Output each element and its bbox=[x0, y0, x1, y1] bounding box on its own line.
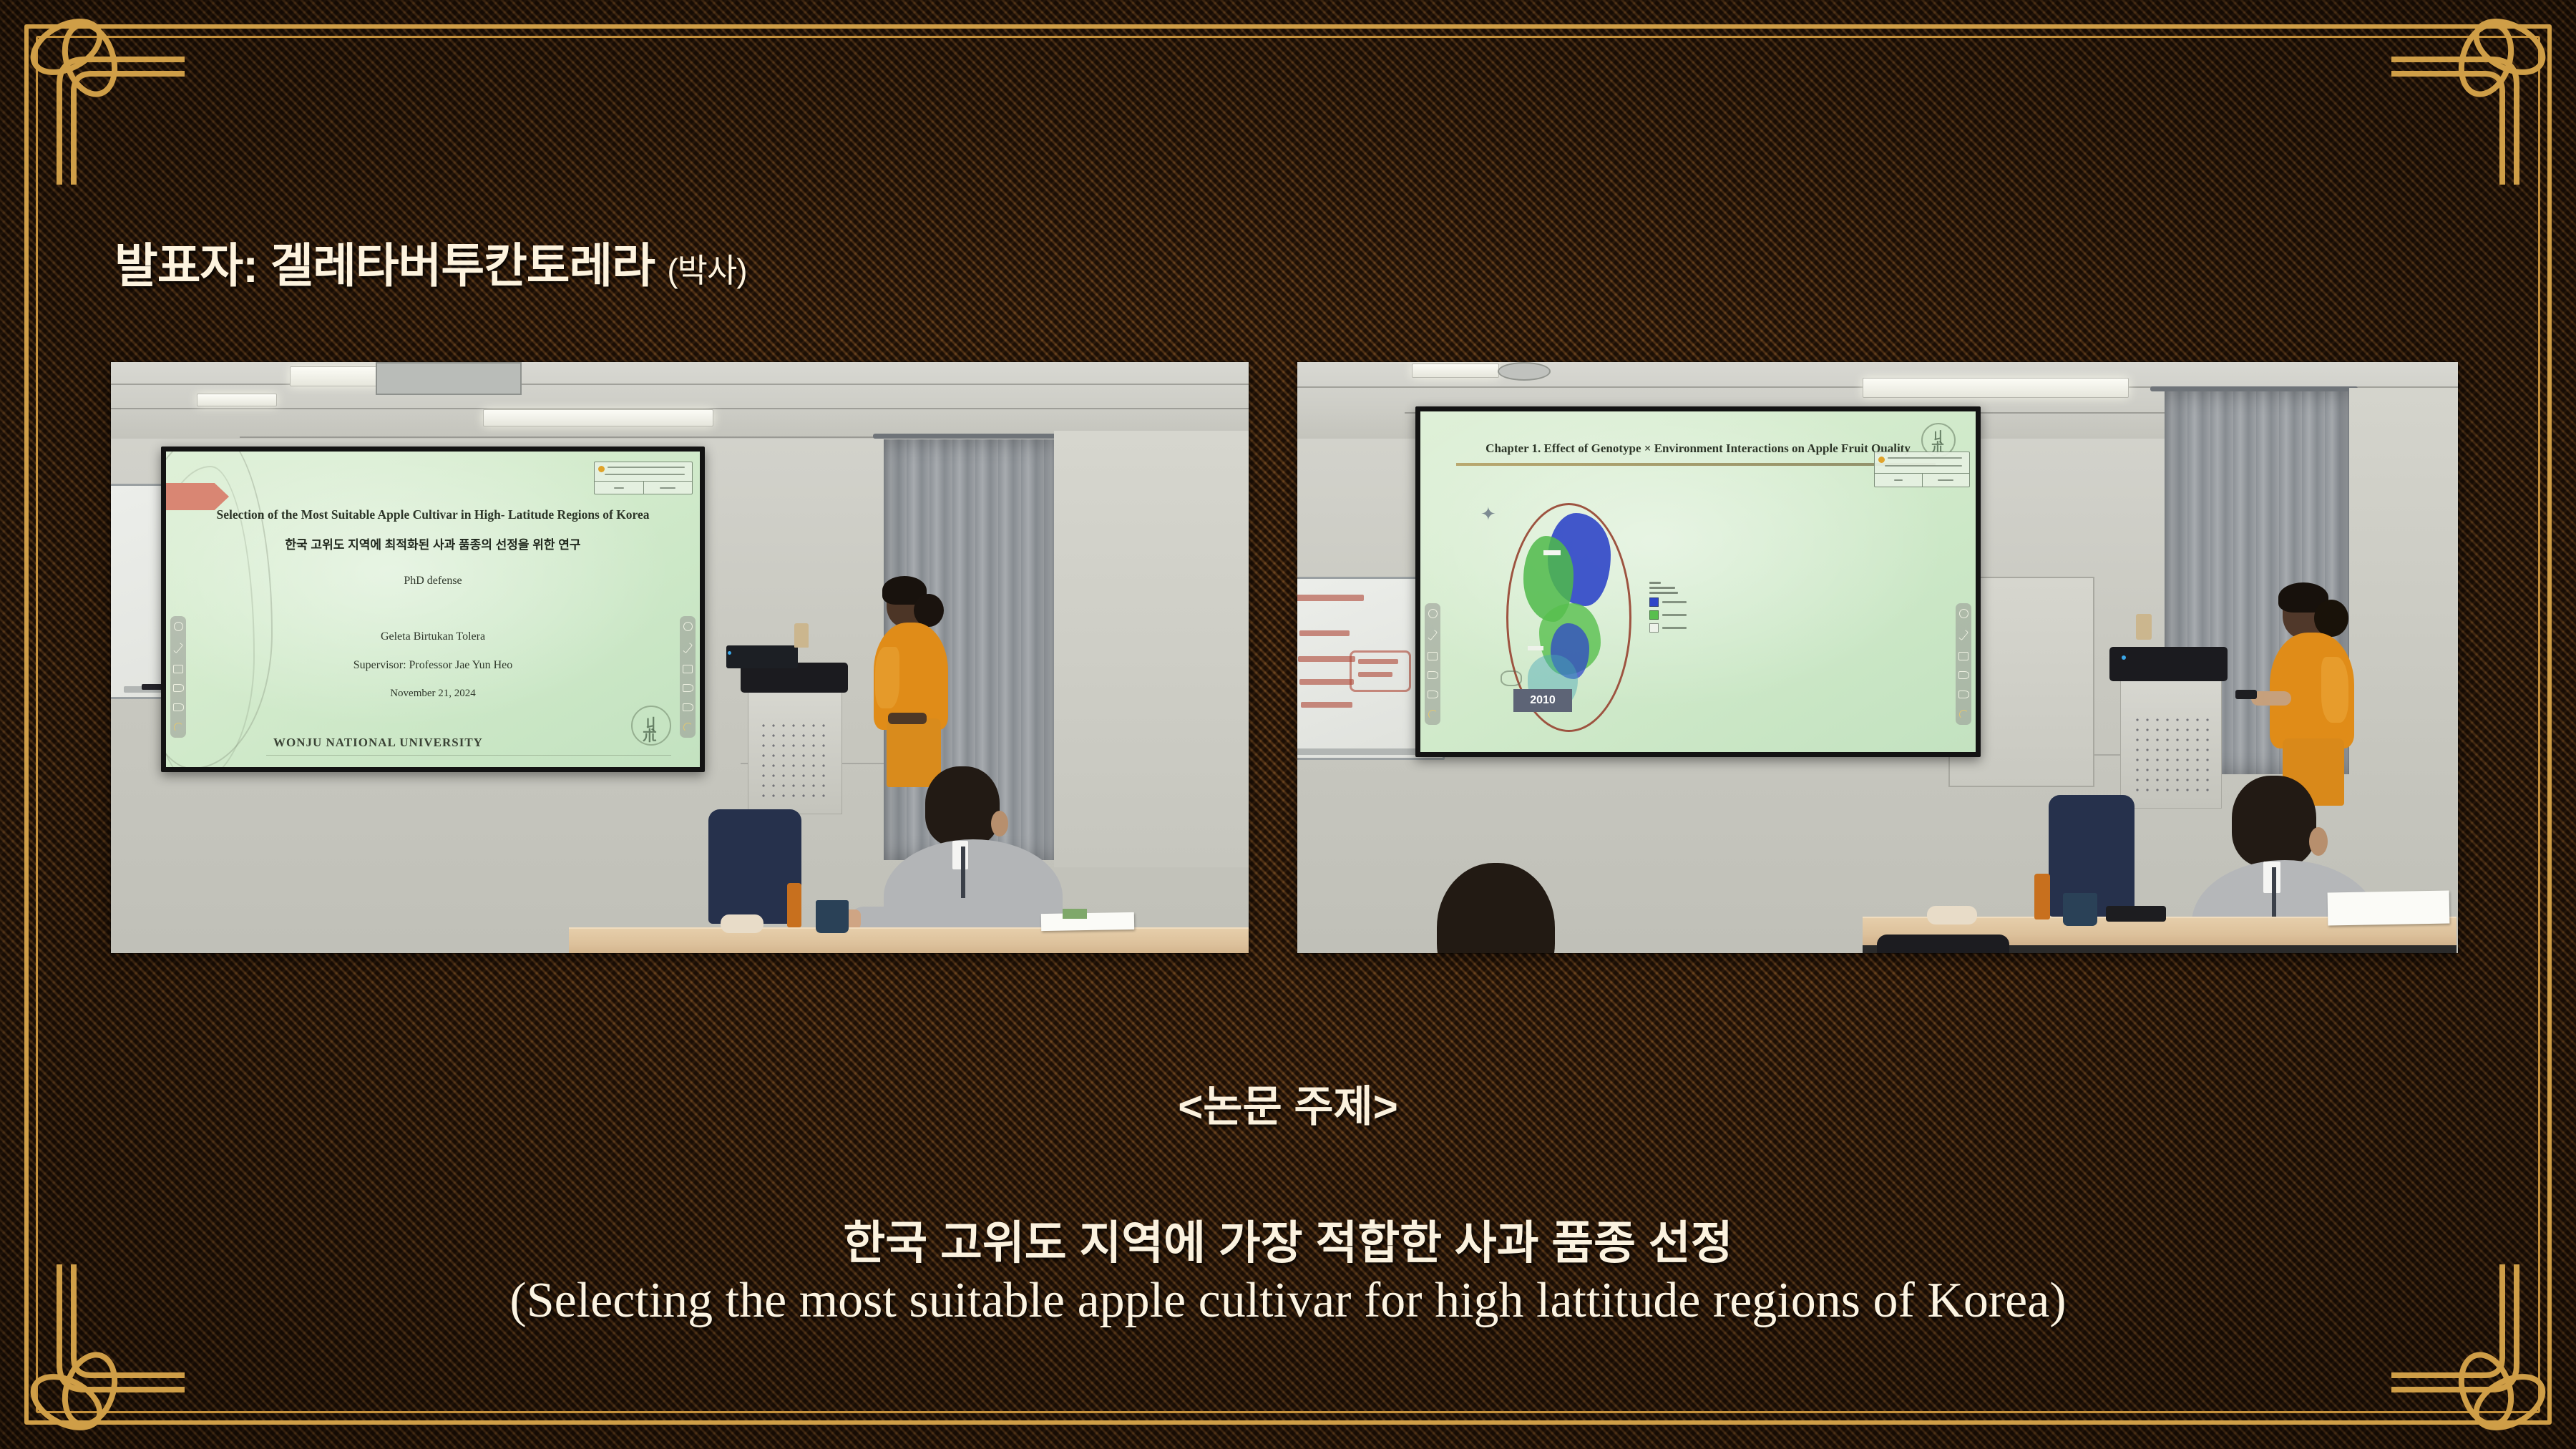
ceiling-speaker bbox=[1498, 362, 1551, 381]
page-icon bbox=[173, 665, 183, 673]
ceiling-light bbox=[1863, 378, 2129, 398]
side-wall bbox=[2349, 388, 2458, 810]
screen-toolbar-right[interactable] bbox=[680, 616, 696, 738]
refresh-icon bbox=[174, 723, 183, 732]
snack-item bbox=[1927, 906, 1977, 924]
back-arrow-icon bbox=[173, 684, 184, 692]
page-icon bbox=[1958, 652, 1968, 660]
coffee-cup bbox=[2063, 893, 2097, 926]
back-arrow-icon bbox=[1958, 671, 1969, 679]
presenter-degree-label: (박사) bbox=[667, 252, 746, 289]
page-icon bbox=[1428, 652, 1438, 660]
pen-icon bbox=[683, 643, 693, 653]
coffee-cup bbox=[816, 900, 849, 933]
pen-icon bbox=[173, 643, 183, 653]
update-dialog bbox=[1874, 452, 1970, 487]
forward-arrow-icon bbox=[683, 703, 693, 711]
seated-reviewer bbox=[884, 766, 1063, 952]
presenter-person bbox=[2267, 582, 2363, 797]
presentation-clicker bbox=[2235, 690, 2257, 699]
slide-title-kr: 한국 고위도 지역에 최적화된 사과 품종의 선정을 위한 연구 bbox=[166, 535, 700, 552]
target-icon bbox=[1959, 609, 1968, 618]
device-led-icon bbox=[2122, 655, 2126, 660]
target-icon bbox=[683, 622, 693, 631]
dialog-yes-button[interactable] bbox=[595, 482, 643, 494]
forward-arrow-icon bbox=[1958, 691, 1969, 698]
slide-title-en: Selection of the Most Suitable Apple Cul… bbox=[166, 507, 700, 522]
presenter-headline: 발표자: 겔레타버투칸토레라 (박사) bbox=[114, 228, 747, 296]
refresh-icon bbox=[1428, 710, 1438, 719]
slide-author-label: Geleta Birtukan Tolera bbox=[166, 630, 700, 643]
ceiling-light bbox=[1412, 364, 1499, 378]
forward-arrow-icon bbox=[173, 703, 184, 711]
slide-event-label: PhD defense bbox=[166, 575, 700, 587]
screen-toolbar-left[interactable] bbox=[1425, 603, 1440, 725]
drink-bottle bbox=[2034, 874, 2050, 919]
projection-screen-frame: Chapter 1. Effect of Genotype × Environm… bbox=[1415, 406, 1981, 757]
map-label-patch bbox=[1528, 646, 1543, 650]
ceiling-light bbox=[483, 409, 713, 426]
page-icon bbox=[683, 665, 693, 673]
drink-bottle bbox=[787, 883, 801, 927]
presentation-slide: 발표자: 겔레타버투칸토레라 (박사) bbox=[0, 0, 2576, 1449]
cup-holder bbox=[2136, 614, 2152, 640]
smartphone bbox=[2106, 906, 2166, 922]
snack-item bbox=[721, 914, 763, 933]
target-icon bbox=[1428, 609, 1438, 618]
slide-institution-label: WONJU NATIONAL UNIVERSITY bbox=[273, 736, 483, 750]
ceiling-vent bbox=[376, 362, 522, 395]
ceiling-light bbox=[197, 394, 277, 406]
map-legend bbox=[1649, 582, 1692, 633]
podium-monitor bbox=[2109, 647, 2228, 681]
caption-tag: <논문 주제> bbox=[0, 1072, 2576, 1134]
slide-supervisor-label: Supervisor: Professor Jae Yun Heo bbox=[166, 659, 700, 672]
audience-member-seated bbox=[1397, 863, 1598, 953]
back-arrow-icon bbox=[683, 684, 693, 692]
back-arrow-icon bbox=[1428, 671, 1438, 679]
map-label-patch bbox=[1543, 550, 1561, 555]
papers-on-desk bbox=[1041, 912, 1134, 931]
update-dialog bbox=[594, 462, 693, 494]
sticky-note bbox=[1063, 909, 1087, 919]
projection-screen-frame: Selection of the Most Suitable Apple Cul… bbox=[161, 447, 705, 772]
curtain-rod bbox=[873, 434, 1066, 439]
device-led-icon bbox=[728, 651, 731, 655]
caption-title-english: (Selecting the most suitable apple culti… bbox=[0, 1272, 2576, 1330]
refresh-icon bbox=[683, 723, 693, 732]
screen-toolbar-right[interactable] bbox=[1956, 603, 1971, 725]
podium-device bbox=[726, 645, 798, 668]
dialog-no-button[interactable] bbox=[1922, 474, 1970, 487]
pen-icon bbox=[1958, 630, 1968, 640]
ceiling-seam bbox=[111, 384, 1249, 385]
podium bbox=[748, 677, 842, 814]
projection-screen: Chapter 1. Effect of Genotype × Environm… bbox=[1420, 411, 1976, 752]
dialog-no-button[interactable] bbox=[643, 482, 693, 494]
refresh-icon bbox=[1959, 710, 1968, 719]
jeju-inset-box bbox=[1501, 670, 1522, 686]
curtain-rod bbox=[2150, 386, 2358, 391]
papers-on-desk bbox=[2328, 891, 2450, 926]
dialog-yes-button[interactable] bbox=[1875, 474, 1922, 487]
cup-holder bbox=[794, 623, 809, 648]
screen-toolbar-left[interactable] bbox=[170, 616, 186, 738]
compass-rose-icon: ✦ bbox=[1480, 504, 1496, 523]
caption-title-korean: 한국 고위도 지역에 가장 적합한 사과 품종 선정 bbox=[0, 1206, 2576, 1272]
target-icon bbox=[174, 622, 183, 631]
slide-date-label: November 21, 2024 bbox=[166, 688, 700, 700]
projection-screen: Selection of the Most Suitable Apple Cul… bbox=[166, 452, 700, 767]
classroom-chair bbox=[1877, 935, 2009, 953]
forward-arrow-icon bbox=[1428, 691, 1438, 698]
photo-title-slide: Selection of the Most Suitable Apple Cul… bbox=[111, 362, 1249, 953]
presenter-person bbox=[869, 578, 955, 786]
pen-icon bbox=[1428, 630, 1438, 640]
photo-chapter-slide: Chapter 1. Effect of Genotype × Environm… bbox=[1297, 362, 2458, 953]
slide-year-badge: 2010 bbox=[1513, 689, 1572, 712]
side-wall bbox=[1054, 431, 1249, 867]
presenter-name-label: 발표자: 겔레타버투칸토레라 bbox=[114, 239, 655, 292]
university-logo-icon: 丩 朮 bbox=[631, 706, 671, 746]
